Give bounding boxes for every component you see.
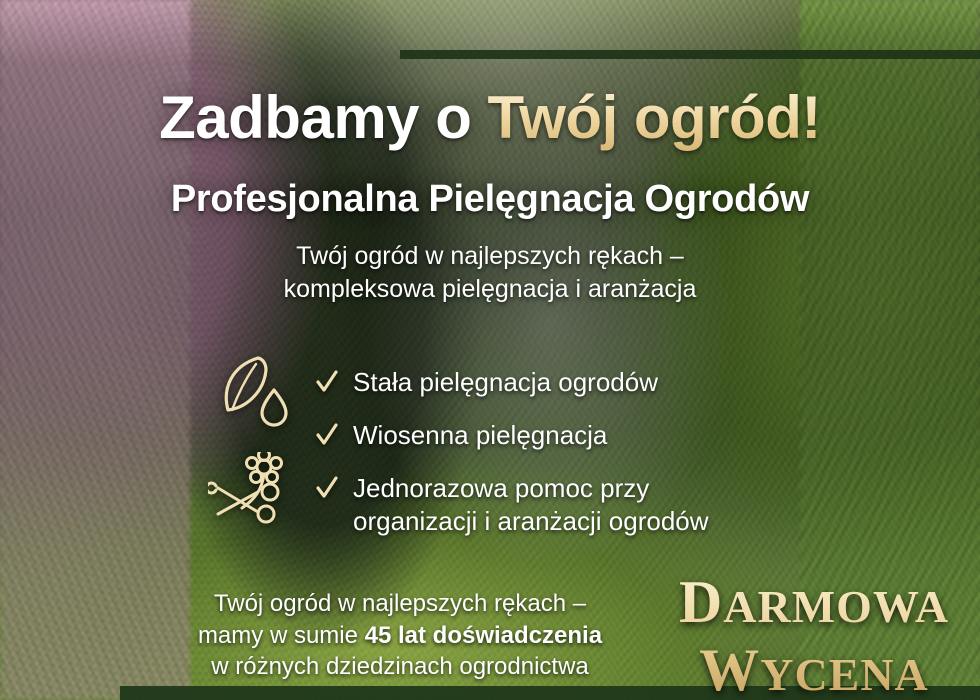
headline: Zadbamy o Twój ogród! — [0, 88, 980, 148]
headline-part1: Zadbamy o — [159, 84, 487, 151]
garden-service-poster: Zadbamy o Twój ogród! Profesjonalna Piel… — [0, 0, 980, 700]
footer-line-1: Twój ogród w najlepszych rękach – — [120, 588, 680, 620]
tagline-line-1: Twój ogród w najlepszych rękach – — [0, 240, 980, 273]
check-icon — [316, 369, 338, 395]
free-quote-line-1: DARMOWA — [664, 572, 964, 632]
check-icon — [316, 475, 338, 501]
free-quote-line-1-rest: ARMOWA — [723, 581, 949, 632]
free-quote-badge[interactable]: DARMOWA WYCENA — [664, 572, 964, 700]
poster-content: Zadbamy o Twój ogród! Profesjonalna Piel… — [0, 0, 980, 700]
free-quote-line-1-cap: D — [679, 569, 723, 635]
tagline-line-2: kompleksowa pielęgnacja i aranżacja — [0, 273, 980, 306]
garden-shears-flower-icon — [208, 452, 294, 534]
footer-line-2-bold: 45 lat doświadczenia — [365, 622, 602, 649]
list-item-label: Wiosenna pielęgnacja — [353, 419, 607, 453]
footer-line-2-pre: mamy w sumie — [198, 622, 365, 649]
list-item-label: Jednorazowa pomoc przy organizacji i ara… — [353, 472, 773, 540]
free-quote-line-2-cap: W — [699, 637, 760, 700]
footer-experience-text: Twój ogród w najlepszych rękach – mamy w… — [120, 588, 680, 683]
check-icon — [316, 422, 338, 448]
footer-line-3: w różnych dziedzinach ogrodnictwa — [120, 651, 680, 683]
feature-list: Stała pielęgnacja ogrodów Wiosenna pielę… — [316, 366, 773, 539]
list-item-label: Stała pielęgnacja ogrodów — [353, 366, 658, 400]
leaf-water-drop-icon — [212, 352, 294, 430]
footer-line-2: mamy w sumie 45 lat doświadczenia — [120, 620, 680, 652]
subheadline: Profesjonalna Pielęgnacja Ogrodów — [0, 178, 980, 221]
list-item: Jednorazowa pomoc przy organizacji i ara… — [316, 472, 773, 540]
list-item: Wiosenna pielęgnacja — [316, 419, 773, 453]
free-quote-line-2: WYCENA — [664, 640, 964, 700]
free-quote-line-2-rest: YCENA — [760, 649, 929, 700]
headline-accent: Twój ogród! — [488, 84, 821, 151]
tagline: Twój ogród w najlepszych rękach – komple… — [0, 240, 980, 307]
list-item: Stała pielęgnacja ogrodów — [316, 366, 773, 400]
